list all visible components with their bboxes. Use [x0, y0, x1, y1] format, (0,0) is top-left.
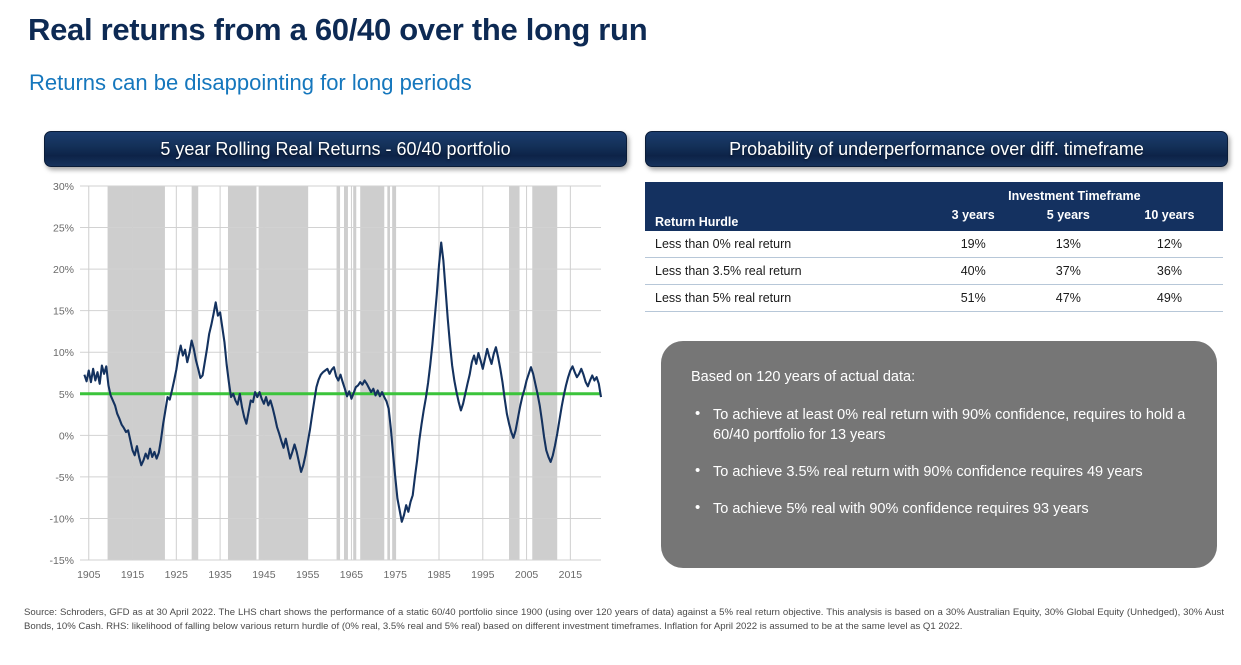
cell-10-years: 12% [1116, 231, 1223, 258]
svg-text:1905: 1905 [77, 569, 101, 581]
cell-10-years: 36% [1116, 258, 1223, 285]
table-row: Less than 5% real return 51% 47% 49% [645, 285, 1223, 312]
bullet-icon: • [695, 404, 700, 425]
cell-hurdle: Less than 0% real return [645, 231, 926, 258]
cell-5-years: 13% [1021, 231, 1116, 258]
svg-text:-10%: -10% [49, 513, 74, 525]
column-header-10-years: 10 years [1116, 205, 1223, 231]
list-item: • To achieve at least 0% real return wit… [689, 405, 1189, 445]
cell-hurdle: Less than 3.5% real return [645, 258, 926, 285]
column-header-3-years: 3 years [926, 205, 1021, 231]
svg-text:2005: 2005 [515, 569, 539, 581]
svg-text:-5%: -5% [55, 472, 74, 484]
svg-text:-15%: -15% [49, 555, 74, 567]
bullet-icon: • [695, 461, 700, 482]
bullet-icon: • [695, 498, 700, 519]
svg-text:1995: 1995 [471, 569, 495, 581]
svg-text:1925: 1925 [165, 569, 189, 581]
svg-text:1945: 1945 [252, 569, 276, 581]
svg-text:1985: 1985 [427, 569, 451, 581]
cell-3-years: 19% [926, 231, 1021, 258]
list-item-label: To achieve 3.5% real return with 90% con… [713, 464, 1143, 480]
svg-text:1935: 1935 [208, 569, 232, 581]
svg-text:1915: 1915 [121, 569, 145, 581]
callout-bullet-list: • To achieve at least 0% real return wit… [689, 405, 1189, 519]
column-header-return-hurdle: Return Hurdle [645, 182, 926, 231]
svg-text:25%: 25% [53, 223, 74, 235]
list-item-label: To achieve at least 0% real return with … [713, 407, 1185, 443]
list-item: • To achieve 3.5% real return with 90% c… [689, 462, 1189, 482]
cell-5-years: 37% [1021, 258, 1116, 285]
rolling-real-returns-chart: 30%25%20%15%10%5%0%-5%-10%-15% 190519151… [44, 178, 629, 590]
chart-y-axis-labels: 30%25%20%15%10%5%0%-5%-10%-15% [49, 181, 74, 567]
right-panel-header: Probability of underperformance over dif… [645, 131, 1228, 167]
cell-3-years: 40% [926, 258, 1021, 285]
cell-10-years: 49% [1116, 285, 1223, 312]
cell-5-years: 47% [1021, 285, 1116, 312]
svg-text:2015: 2015 [559, 569, 583, 581]
left-panel-header: 5 year Rolling Real Returns - 60/40 port… [44, 131, 627, 167]
table-head: Return Hurdle Investment Timeframe 3 yea… [645, 182, 1223, 231]
svg-text:5%: 5% [59, 389, 74, 401]
probability-table: Return Hurdle Investment Timeframe 3 yea… [645, 182, 1223, 312]
svg-text:15%: 15% [53, 306, 74, 318]
list-item-label: To achieve 5% real with 90% confidence r… [713, 501, 1089, 517]
left-panel-header-label: 5 year Rolling Real Returns - 60/40 port… [160, 139, 510, 160]
svg-text:30%: 30% [53, 181, 74, 193]
svg-text:1965: 1965 [340, 569, 364, 581]
svg-text:1955: 1955 [296, 569, 320, 581]
svg-text:0%: 0% [59, 430, 74, 442]
page-subtitle: Returns can be disappointing for long pe… [29, 70, 472, 96]
svg-text:20%: 20% [53, 264, 74, 276]
callout-intro-text: Based on 120 years of actual data: [691, 367, 1189, 387]
list-item: • To achieve 5% real with 90% confidence… [689, 499, 1189, 519]
table-header-row-group: Return Hurdle Investment Timeframe [645, 182, 1223, 205]
page-title: Real returns from a 60/40 over the long … [28, 12, 647, 48]
summary-callout-box: Based on 120 years of actual data: • To … [661, 341, 1217, 568]
cell-3-years: 51% [926, 285, 1021, 312]
source-footnote: Source: Schroders, GFD as at 30 April 20… [24, 606, 1224, 633]
svg-text:1975: 1975 [384, 569, 408, 581]
svg-text:10%: 10% [53, 347, 74, 359]
cell-hurdle: Less than 5% real return [645, 285, 926, 312]
table-body: Less than 0% real return 19% 13% 12% Les… [645, 231, 1223, 312]
chart-svg: 30%25%20%15%10%5%0%-5%-10%-15% 190519151… [44, 178, 629, 590]
chart-x-axis-labels: 1905191519251935194519551965197519851995… [77, 569, 582, 581]
column-header-5-years: 5 years [1021, 205, 1116, 231]
table-row: Less than 0% real return 19% 13% 12% [645, 231, 1223, 258]
right-panel-header-label: Probability of underperformance over dif… [729, 139, 1144, 160]
table-row: Less than 3.5% real return 40% 37% 36% [645, 258, 1223, 285]
column-header-investment-timeframe: Investment Timeframe [926, 182, 1223, 205]
